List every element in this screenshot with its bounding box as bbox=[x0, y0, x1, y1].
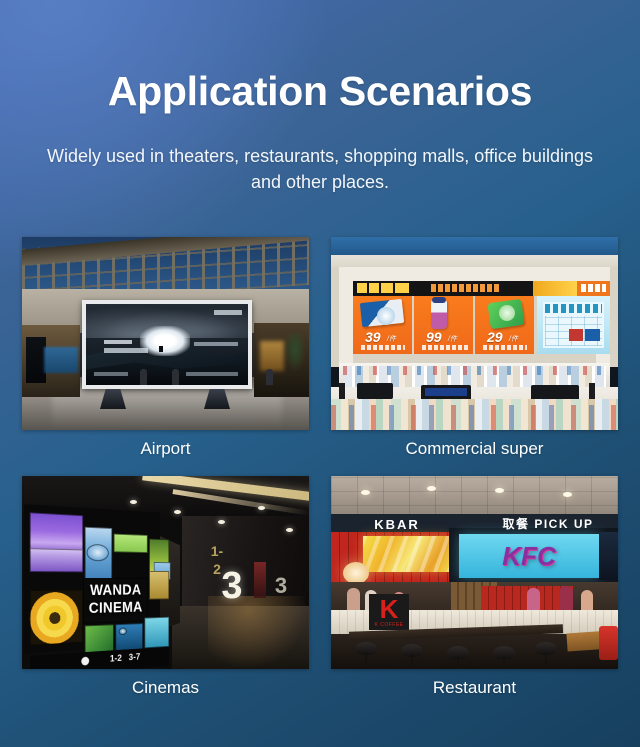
scenario-caption-commercial-super: Commercial super bbox=[331, 439, 618, 459]
airport-floor-reflection bbox=[52, 387, 282, 430]
scenario-row-top: Airport bbox=[22, 237, 618, 459]
scenario-row-bottom: 1-2 3 3 bbox=[22, 476, 618, 698]
screen-brand-mark bbox=[214, 310, 242, 315]
screen-caption-line-3 bbox=[194, 342, 238, 346]
promo-price-1: 39 bbox=[365, 329, 381, 345]
page-subtitle: Widely used in theaters, restaurants, sh… bbox=[38, 143, 602, 195]
promo-unit-3: /件 bbox=[509, 334, 518, 344]
bar-stool-leg bbox=[457, 656, 459, 669]
cinema-hall-number-distant: 3 bbox=[274, 572, 288, 600]
ceiling-spotlight bbox=[427, 486, 436, 491]
promo-header-yellow-block bbox=[533, 281, 577, 296]
screen-footer-left bbox=[94, 372, 128, 376]
airport-left-lightbox bbox=[44, 347, 78, 373]
promo-was-3 bbox=[483, 345, 527, 350]
scenario-grid: Airport bbox=[22, 237, 618, 698]
bar-stool-leg bbox=[503, 656, 505, 669]
video-tile-green-panel bbox=[114, 534, 148, 553]
scenario-card-cinemas[interactable]: 1-2 3 3 bbox=[22, 476, 309, 698]
cinema-hall-number: 3 bbox=[220, 564, 244, 608]
side-led-screen bbox=[599, 532, 618, 580]
cinemas-photo: 1-2 3 3 bbox=[22, 476, 309, 669]
restaurant-photo: KFC KBAR 取餐 PICK UP bbox=[331, 476, 618, 669]
side-screen-item-blue bbox=[585, 329, 600, 341]
video-tile-cyan-panel bbox=[144, 617, 169, 648]
pos-terminal-2-screen bbox=[425, 388, 467, 396]
pos-terminal-1 bbox=[357, 383, 393, 399]
kbar-led-screen-pattern bbox=[363, 536, 449, 572]
scenario-card-restaurant[interactable]: KFC KBAR 取餐 PICK UP bbox=[331, 476, 618, 698]
screen-caption-line-2 bbox=[104, 348, 148, 353]
k-coffee-letter: K bbox=[375, 596, 403, 622]
promo-price-2: 99 bbox=[426, 329, 442, 345]
cinema-poster bbox=[254, 562, 266, 598]
promo-unit-1: /件 bbox=[387, 334, 396, 344]
promo-product-2-cap bbox=[432, 297, 446, 303]
promo-product-3-detail bbox=[499, 305, 515, 321]
video-tile-wheat bbox=[149, 571, 169, 600]
commercial-super-photo: 39 /件 99 /件 29 /件 bbox=[331, 237, 618, 430]
pickup-sign-text: 取餐 PICK UP bbox=[483, 516, 613, 533]
side-screen-item-red bbox=[569, 329, 583, 341]
airport-person bbox=[140, 369, 147, 385]
bar-stool-leg bbox=[545, 652, 547, 666]
airport-right-lightbox bbox=[260, 341, 284, 371]
promo-was-2 bbox=[422, 345, 468, 350]
pendant-lamp bbox=[343, 562, 369, 584]
ceiling-downlight bbox=[130, 500, 137, 504]
airport-led-screen bbox=[86, 304, 248, 385]
counter-products-accents bbox=[331, 405, 618, 430]
page-title: Application Scenarios bbox=[0, 68, 640, 115]
video-tile-purple-highlight bbox=[30, 548, 83, 572]
promo-header-text bbox=[357, 283, 409, 293]
ceiling-downlight bbox=[258, 506, 265, 510]
restaurant-red-chair bbox=[599, 626, 618, 660]
promo-was-1 bbox=[361, 345, 405, 350]
ceiling-downlight bbox=[218, 520, 225, 524]
kbar-sign-text: KBAR bbox=[361, 516, 433, 533]
video-tile-sunflower bbox=[30, 589, 83, 645]
promo-unit-2: /件 bbox=[448, 334, 457, 344]
application-scenarios-page: Application Scenarios Widely used in the… bbox=[0, 0, 640, 747]
cinema-brand-text: WANDA CINEMA bbox=[83, 582, 148, 618]
ceiling-spotlight bbox=[563, 492, 572, 497]
scenario-card-commercial-super[interactable]: 39 /件 99 /件 29 /件 bbox=[331, 237, 618, 459]
airport-photo bbox=[22, 237, 309, 430]
promo-price-3: 29 bbox=[487, 329, 503, 345]
airport-planter bbox=[284, 333, 306, 373]
screen-figure bbox=[159, 346, 163, 352]
side-screen-header bbox=[545, 304, 602, 313]
ceiling-spotlight bbox=[495, 488, 504, 493]
video-tile-cloud-highlight bbox=[87, 544, 109, 561]
videowall-frame-top bbox=[339, 267, 610, 281]
payment-banner-text bbox=[581, 284, 606, 292]
screen-caption-line-1 bbox=[104, 340, 132, 344]
airport-person bbox=[266, 369, 273, 385]
ceiling-spotlight bbox=[361, 490, 370, 495]
ceiling-downlight bbox=[174, 510, 181, 514]
k-coffee-label: K COFFEE bbox=[371, 622, 407, 628]
cinema-video-wall: WANDA CINEMA 1-2 3-7 bbox=[24, 504, 160, 654]
promo-header-subtext bbox=[431, 284, 501, 292]
shelf-goods-accents bbox=[343, 366, 606, 375]
kfc-brand-text: KFC bbox=[459, 536, 599, 576]
scenario-card-airport[interactable]: Airport bbox=[22, 237, 309, 459]
promo-product-2 bbox=[431, 299, 447, 329]
bar-stool-leg bbox=[411, 654, 413, 668]
screen-footer-right bbox=[186, 372, 238, 376]
scenario-caption-restaurant: Restaurant bbox=[331, 678, 618, 698]
cinema-hall-sign-far: 1-2 bbox=[210, 542, 224, 560]
scenario-caption-airport: Airport bbox=[22, 439, 309, 459]
bar-stool-leg bbox=[365, 652, 367, 666]
airport-left-doorway bbox=[26, 337, 46, 383]
scenario-caption-cinemas: Cinemas bbox=[22, 678, 309, 698]
ceiling-downlight bbox=[286, 528, 293, 532]
promo-product-1-detail bbox=[377, 307, 395, 325]
videowall-frame-left bbox=[339, 267, 353, 367]
airport-person bbox=[172, 369, 179, 385]
